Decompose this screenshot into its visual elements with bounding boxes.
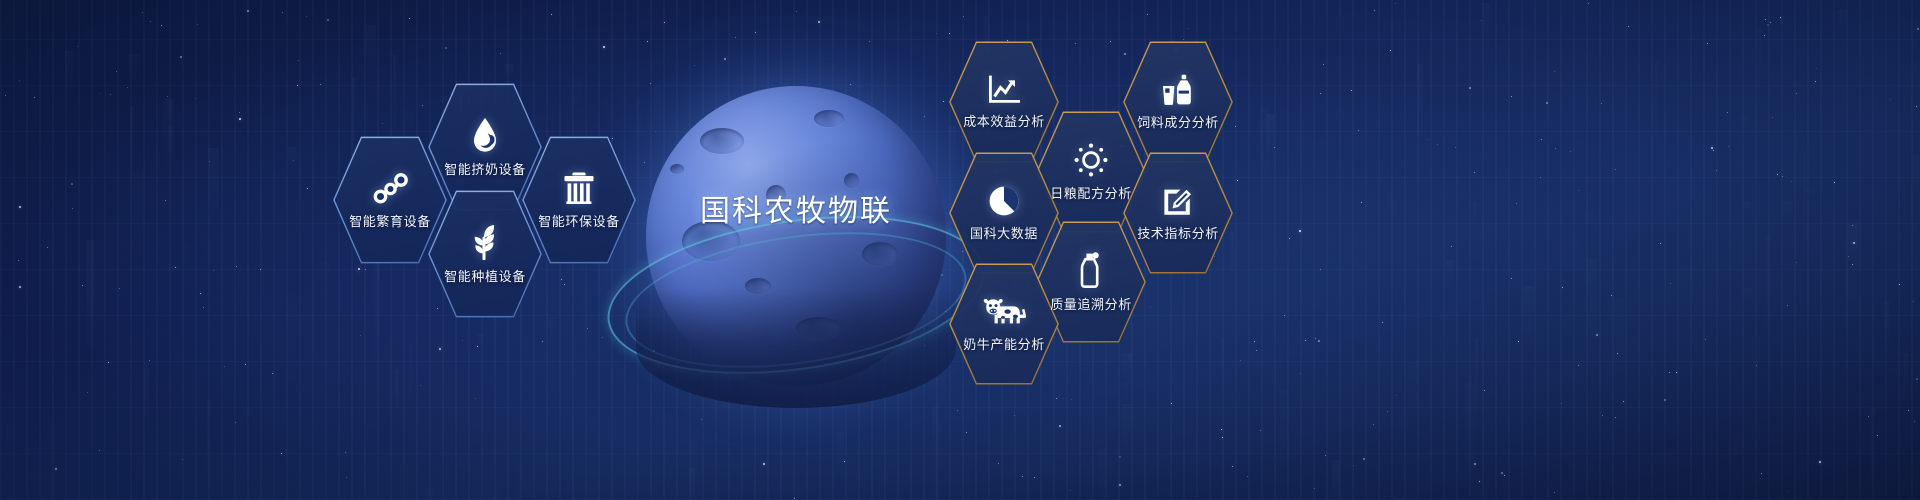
- cow-icon: [982, 296, 1026, 328]
- edit-pencil-icon: [1162, 185, 1194, 217]
- plant-sprout-icon: [468, 224, 502, 260]
- line-chart-icon: [988, 75, 1020, 105]
- hex-label: 技术指标分析: [1137, 223, 1219, 242]
- trash-bin-icon: [563, 171, 595, 205]
- pie-chart-icon: [988, 185, 1020, 217]
- hex-label: 智能种植设备: [444, 266, 526, 285]
- hex-label: 日粮配方分析: [1050, 183, 1132, 202]
- network-node-icon: [372, 171, 408, 205]
- hex-label: 质量追溯分析: [1050, 294, 1132, 313]
- hero-banner: 国科农牧物联 智能繁育设备: [0, 0, 1920, 500]
- bottle-glass-icon: [1161, 74, 1195, 106]
- hex-label: 国科大数据: [970, 223, 1038, 242]
- sun-icon: [1074, 143, 1108, 177]
- hex-label: 饲料成分分析: [1137, 112, 1219, 131]
- milk-bottle-icon: [1078, 252, 1104, 288]
- hex-label: 奶牛产能分析: [963, 334, 1045, 353]
- hex-label: 智能环保设备: [538, 211, 620, 230]
- hex-label: 智能繁育设备: [349, 211, 431, 230]
- hex-label: 智能挤奶设备: [444, 159, 526, 178]
- water-droplet-icon: [471, 117, 499, 153]
- hex-label: 成本效益分析: [963, 111, 1045, 130]
